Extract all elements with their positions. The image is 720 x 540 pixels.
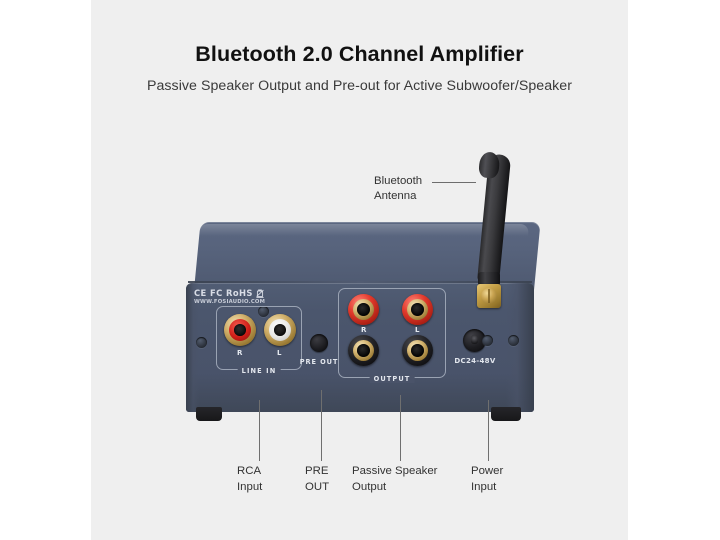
rca-right-channel-label: R	[237, 349, 242, 357]
callout-bluetooth-antenna: Bluetooth Antenna	[374, 174, 422, 204]
speaker-right-channel-label: R	[361, 326, 366, 334]
rubber-foot-right	[491, 407, 521, 421]
certification-text: CE FC RoHS	[194, 288, 253, 298]
callout-rca-input: RCA Input	[237, 464, 262, 495]
page-title: Bluetooth 2.0 Channel Amplifier	[91, 42, 628, 67]
binding-post-hole	[411, 303, 424, 316]
binding-post-right-negative[interactable]	[348, 335, 379, 366]
certification-marks: CE FC RoHS	[194, 288, 290, 298]
sma-connector-gold	[477, 284, 501, 308]
pre-out-label: PRE OUT	[298, 358, 340, 366]
callout-power-input: Power Input	[471, 464, 503, 495]
amplifier-device: CE FC RoHS WWW.FOSIAUDIO.COM LINE IN	[186, 222, 534, 412]
leader-line-antenna	[432, 182, 476, 183]
pre-out-jack[interactable]	[310, 334, 328, 352]
rca-socket	[274, 324, 286, 336]
weee-bin-icon	[256, 289, 264, 298]
dc-power-label: DC24-48V	[448, 357, 502, 365]
binding-post-hole	[411, 344, 424, 357]
leader-line-rca-input	[259, 400, 260, 461]
silkscreen-website: WWW.FOSIAUDIO.COM	[194, 299, 290, 305]
callout-passive-speaker-output: Passive Speaker Output	[352, 464, 437, 495]
chassis-screw	[508, 335, 519, 346]
binding-post-left-positive[interactable]	[402, 294, 433, 325]
silkscreen-block: CE FC RoHS WWW.FOSIAUDIO.COM	[194, 288, 290, 305]
leader-line-speaker-output	[400, 395, 401, 461]
binding-post-hole	[357, 303, 370, 316]
speaker-output-group-label: OUTPUT	[370, 375, 415, 383]
sma-connector-slot	[488, 289, 490, 303]
chassis-screw	[196, 337, 207, 348]
binding-post-left-negative[interactable]	[402, 335, 433, 366]
line-in-group-label: LINE IN	[238, 367, 281, 375]
binding-post-right-positive[interactable]	[348, 294, 379, 325]
rca-jack-right[interactable]	[224, 314, 256, 346]
chassis-screw	[482, 335, 493, 346]
rca-jack-left[interactable]	[264, 314, 296, 346]
leader-line-power-input	[488, 400, 489, 461]
leader-line-pre-out	[321, 390, 322, 461]
binding-post-hole	[357, 344, 370, 357]
chassis-right-edge	[506, 283, 534, 412]
callout-pre-out: PRE OUT	[305, 464, 329, 495]
rca-left-channel-label: L	[277, 349, 281, 357]
bluetooth-antenna[interactable]	[473, 154, 507, 314]
rubber-foot-left	[196, 407, 222, 421]
rca-socket	[234, 324, 246, 336]
product-image: Bluetooth 2.0 Channel Amplifier Passive …	[0, 0, 720, 540]
speaker-left-channel-label: L	[415, 326, 419, 334]
page-subtitle: Passive Speaker Output and Pre-out for A…	[91, 78, 628, 94]
